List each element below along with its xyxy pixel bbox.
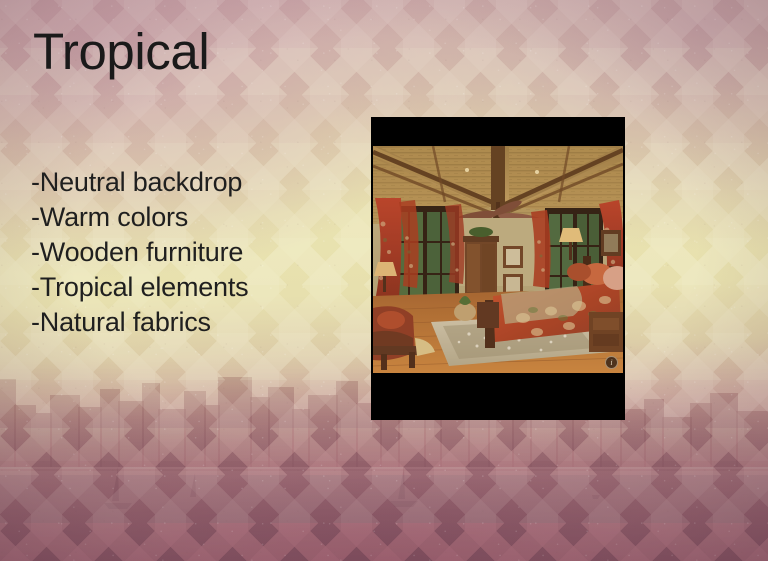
bullet-item: -Wooden furniture [31,235,248,270]
bullet-item: -Warm colors [31,200,248,235]
photo-watermark-icon: i [605,356,618,369]
bullet-item: -Natural fabrics [31,305,248,340]
bullet-item: -Neutral backdrop [31,165,248,200]
slide-title: Tropical [33,22,209,81]
bedroom-photo-frame: i [371,117,625,420]
bullet-item: -Tropical elements [31,270,248,305]
presentation-slide: Tropical -Neutral backdrop -Warm colors … [0,0,768,561]
bedroom-photo-image: i [373,146,623,373]
bullet-list: -Neutral backdrop -Warm colors -Wooden f… [31,165,248,340]
